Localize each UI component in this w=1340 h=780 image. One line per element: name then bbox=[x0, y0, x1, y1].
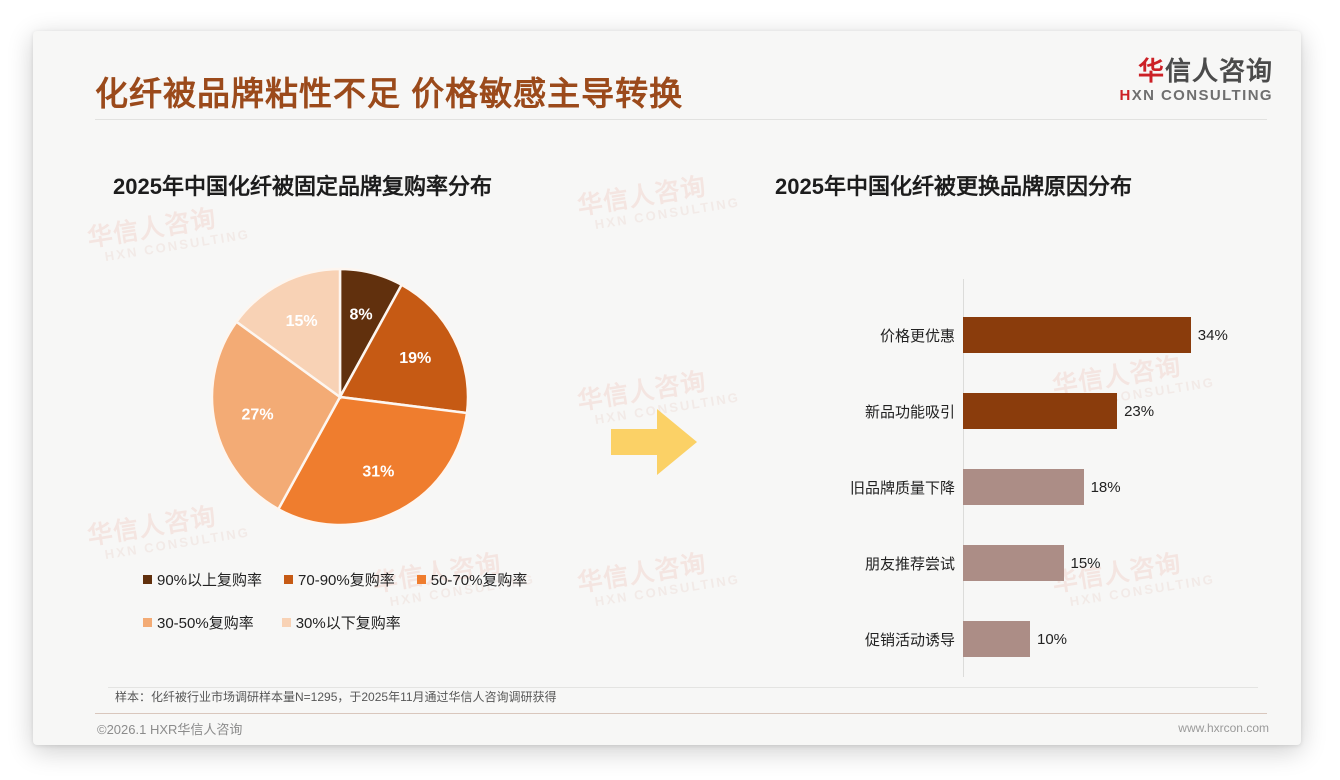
bar-row: 朋友推荐尝试15% bbox=[775, 545, 1285, 581]
legend-label: 30-50%复购率 bbox=[157, 612, 254, 633]
bar-track: 23% bbox=[963, 393, 1285, 429]
legend-swatch-icon bbox=[143, 575, 152, 584]
bar-value-label: 10% bbox=[1037, 631, 1067, 648]
bar-category-label: 新品功能吸引 bbox=[775, 401, 963, 422]
pie-legend: 90%以上复购率 70-90%复购率 50-70%复购率 30-50%复购率 bbox=[143, 569, 603, 655]
watermark-cn: 华信人咨询 bbox=[576, 169, 739, 220]
slide-card: 华信人咨询 HXN CONSULTING 华信人咨询 HXN CONSULTIN… bbox=[33, 31, 1301, 745]
bar-fill[interactable] bbox=[963, 469, 1084, 505]
bar-value-label: 34% bbox=[1198, 327, 1228, 344]
bar-chart: 价格更优惠34%新品功能吸引23%旧品牌质量下降18%朋友推荐尝试15%促销活动… bbox=[775, 279, 1285, 677]
legend-item-0[interactable]: 90%以上复购率 bbox=[143, 569, 262, 590]
bar-row: 旧品牌质量下降18% bbox=[775, 469, 1285, 505]
pie-chart-svg: 8%19%31%27%15% bbox=[211, 268, 469, 526]
logo-en-rest: XN CONSULTING bbox=[1132, 87, 1273, 104]
bar-track: 34% bbox=[963, 317, 1285, 353]
slide-root: 华信人咨询 HXN CONSULTING 华信人咨询 HXN CONSULTIN… bbox=[0, 0, 1340, 780]
bar-category-label: 价格更优惠 bbox=[775, 325, 963, 346]
watermark: 华信人咨询 HXN CONSULTING bbox=[576, 169, 741, 235]
page-title: 化纤被品牌粘性不足 价格敏感主导转换 bbox=[95, 67, 683, 115]
watermark: 华信人咨询 HXN CONSULTING bbox=[86, 201, 251, 267]
legend-item-3[interactable]: 30-50%复购率 bbox=[143, 612, 254, 633]
bar-value-label: 23% bbox=[1124, 403, 1154, 420]
brand-logo: 华信人咨询 HXN CONSULTING bbox=[1120, 57, 1274, 104]
logo-cn-accent: 华 bbox=[1138, 56, 1165, 86]
bar-value-label: 15% bbox=[1071, 555, 1101, 572]
legend-label: 30%以下复购率 bbox=[296, 612, 401, 633]
bar-row: 新品功能吸引23% bbox=[775, 393, 1285, 429]
logo-cn-rest: 信人咨询 bbox=[1165, 56, 1273, 86]
pie-chart-title: 2025年中国化纤被固定品牌复购率分布 bbox=[113, 169, 492, 201]
watermark-en: HXN CONSULTING bbox=[594, 572, 741, 610]
legend-swatch-icon bbox=[284, 575, 293, 584]
legend-item-4[interactable]: 30%以下复购率 bbox=[282, 612, 401, 633]
watermark-en: HXN CONSULTING bbox=[104, 227, 251, 265]
right-arrow-svg bbox=[611, 407, 697, 477]
watermark-cn: 华信人咨询 bbox=[86, 201, 249, 252]
watermark-en: HXN CONSULTING bbox=[594, 195, 741, 233]
legend-swatch-icon bbox=[417, 575, 426, 584]
bar-category-label: 旧品牌质量下降 bbox=[775, 477, 963, 498]
pie-slice-label: 15% bbox=[286, 313, 318, 330]
bar-fill[interactable] bbox=[963, 545, 1064, 581]
bar-row: 促销活动诱导10% bbox=[775, 621, 1285, 657]
bar-track: 10% bbox=[963, 621, 1285, 657]
bar-row: 价格更优惠34% bbox=[775, 317, 1285, 353]
pie-slice-label: 31% bbox=[362, 463, 394, 480]
bar-fill[interactable] bbox=[963, 621, 1030, 657]
footer-copyright: ©2026.1 HXR华信人咨询 bbox=[97, 719, 242, 738]
legend-label: 70-90%复购率 bbox=[298, 569, 395, 590]
legend-item-2[interactable]: 50-70%复购率 bbox=[417, 569, 528, 590]
footer-divider bbox=[95, 713, 1267, 714]
watermark-en: HXN CONSULTING bbox=[104, 525, 251, 563]
footer-website[interactable]: www.hxrcon.com bbox=[1178, 721, 1269, 735]
bar-fill[interactable] bbox=[963, 317, 1191, 353]
pie-slice-label: 27% bbox=[242, 407, 274, 424]
pie-slice-label: 19% bbox=[399, 350, 431, 367]
logo-en-text: HXN CONSULTING bbox=[1120, 87, 1274, 104]
pie-slice-label: 8% bbox=[349, 306, 372, 323]
bar-track: 18% bbox=[963, 469, 1285, 505]
bar-value-label: 18% bbox=[1091, 479, 1121, 496]
bar-category-label: 朋友推荐尝试 bbox=[775, 553, 963, 574]
right-arrow-icon bbox=[611, 407, 697, 477]
logo-en-accent: H bbox=[1120, 87, 1132, 104]
legend-row: 30-50%复购率 30%以下复购率 bbox=[143, 612, 603, 633]
header-divider bbox=[95, 119, 1267, 120]
bar-chart-title: 2025年中国化纤被更换品牌原因分布 bbox=[775, 169, 1132, 201]
logo-cn-text: 华信人咨询 bbox=[1120, 57, 1274, 86]
source-note: 样本：化纤被行业市场调研样本量N=1295，于2025年11月通过华信人咨询调研… bbox=[115, 688, 557, 705]
legend-swatch-icon bbox=[282, 618, 291, 627]
legend-row: 90%以上复购率 70-90%复购率 50-70%复购率 bbox=[143, 569, 603, 590]
legend-item-1[interactable]: 70-90%复购率 bbox=[284, 569, 395, 590]
pie-chart: 8%19%31%27%15% bbox=[211, 268, 469, 526]
bar-fill[interactable] bbox=[963, 393, 1117, 429]
bar-track: 15% bbox=[963, 545, 1285, 581]
bar-category-label: 促销活动诱导 bbox=[775, 629, 963, 650]
legend-label: 90%以上复购率 bbox=[157, 569, 262, 590]
legend-label: 50-70%复购率 bbox=[431, 569, 528, 590]
legend-swatch-icon bbox=[143, 618, 152, 627]
